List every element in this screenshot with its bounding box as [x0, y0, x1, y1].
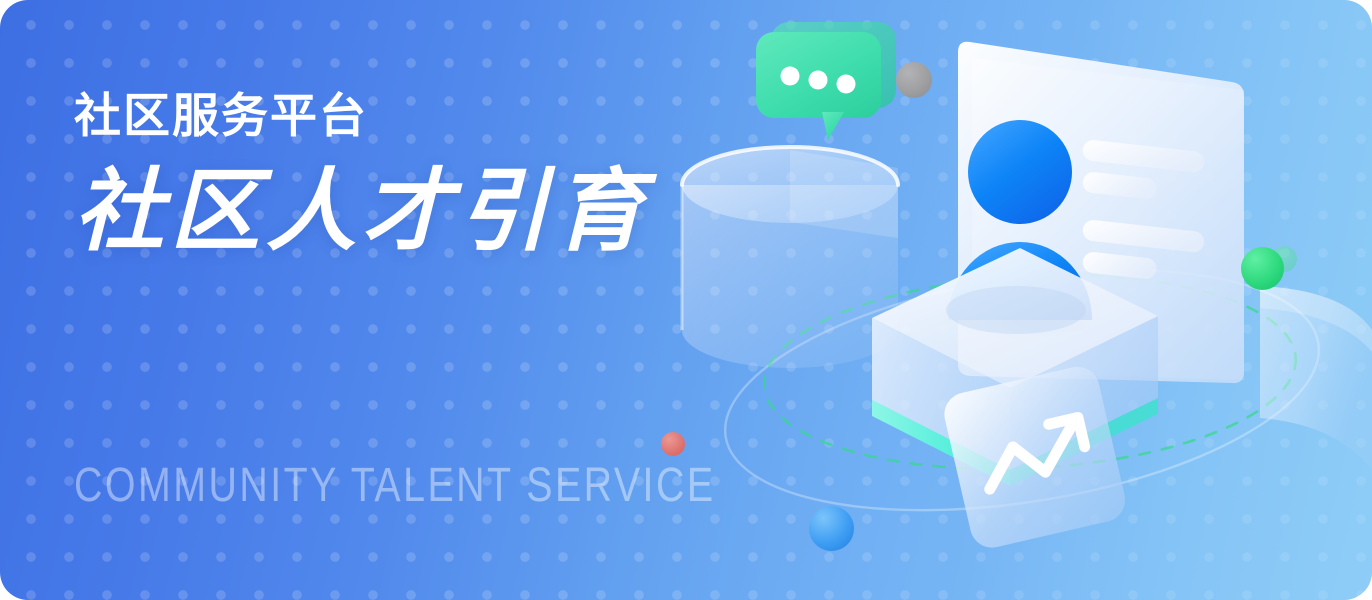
- headline-group: 社区服务平台 社区人才引育: [74, 92, 650, 259]
- avatar-head: [968, 120, 1072, 224]
- floating-sphere-red: [661, 432, 685, 456]
- floating-sphere-blue: [809, 506, 854, 551]
- banner-title: 社区人才引育: [74, 167, 650, 259]
- glass-ribbon: [1260, 286, 1372, 470]
- chat-bubble: [756, 22, 896, 140]
- banner-subtitle: 社区服务平台: [74, 92, 650, 139]
- banner-english-tagline: COMMUNITY TALENT SERVICE: [74, 458, 716, 513]
- glass-cylinder: [682, 147, 898, 368]
- hero-illustration: [672, 0, 1372, 600]
- floating-sphere-gray: [896, 62, 932, 98]
- floating-sphere-green: [1241, 247, 1284, 290]
- community-talent-banner: 社区服务平台 社区人才引育 COMMUNITY TALENT SERVICE: [0, 0, 1372, 600]
